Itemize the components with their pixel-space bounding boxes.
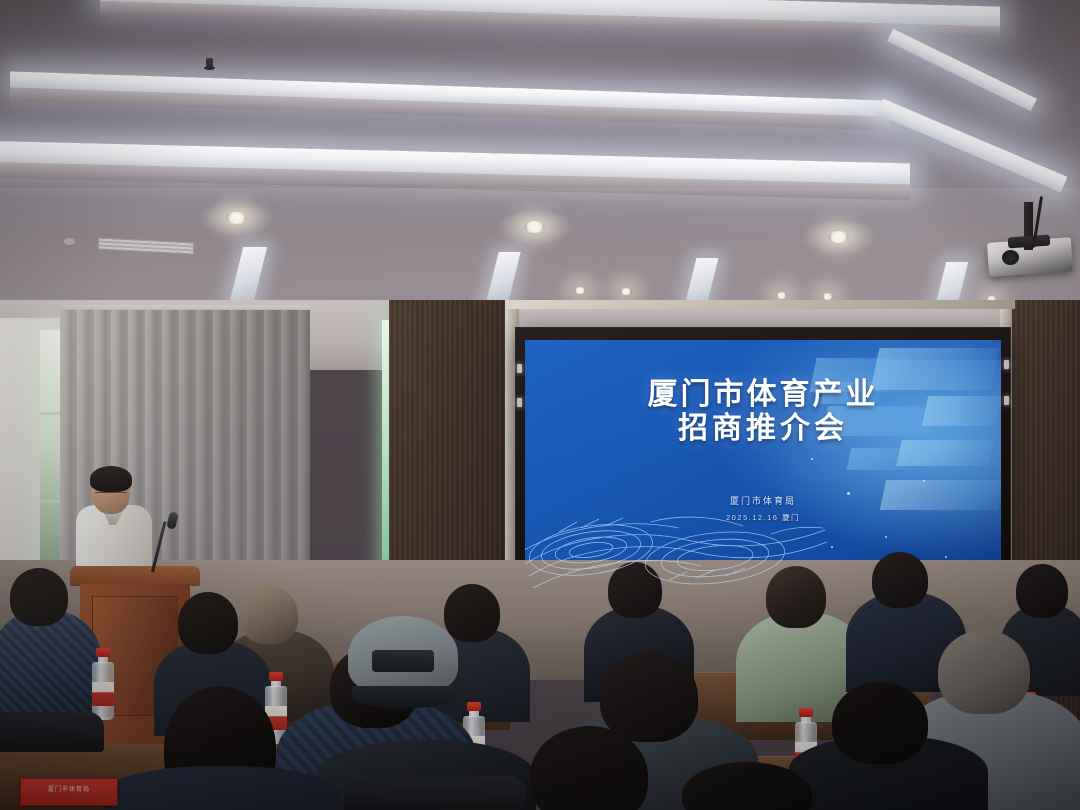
bezel-reflection	[1004, 360, 1009, 369]
sprinkler-head	[206, 58, 213, 69]
slide-title: 厦门市体育产业 招商推介会	[525, 378, 1001, 446]
audience-head	[10, 568, 68, 626]
slide-sparkle	[811, 458, 813, 460]
slide-sparkle	[885, 536, 887, 538]
bottle-cap	[467, 702, 481, 711]
audience-head	[444, 584, 500, 642]
ceiling	[0, 0, 1080, 330]
audience-head	[832, 682, 928, 764]
bottle-label	[92, 682, 114, 706]
recessed-downlight	[524, 221, 545, 233]
slide-title-line1: 厦门市体育产业	[648, 377, 879, 412]
speaker-glasses	[95, 492, 127, 499]
audience-head	[600, 652, 698, 742]
audience-head	[1016, 564, 1068, 618]
bottle-cap	[799, 708, 813, 717]
smoke-detector	[64, 238, 75, 245]
slide-sparkle	[831, 546, 833, 548]
podium-top	[70, 566, 200, 586]
audience-head	[872, 552, 928, 608]
bezel-reflection	[1004, 396, 1009, 405]
audience-head	[938, 630, 1030, 714]
speaker-hair	[90, 466, 132, 492]
slide-ribbon	[847, 448, 916, 470]
slide-title-line2: 招商推介会	[525, 412, 1001, 446]
chair-back	[344, 776, 526, 810]
slide-date-location: 2025.12.16 厦门	[525, 512, 1001, 523]
audience-plaid-blue	[0, 610, 102, 720]
recessed-downlight	[776, 292, 787, 299]
conference-room-photo: 厦门市体育产业 招商推介会 厦门市体育局 2025.12.16 厦门	[0, 0, 1080, 810]
audience-head	[240, 586, 298, 644]
recessed-downlight	[828, 231, 849, 243]
cap-brim	[352, 686, 456, 708]
name-card-text: 厦门市体育局	[21, 784, 117, 793]
recessed-downlight	[822, 293, 833, 300]
bottle-cap	[96, 648, 110, 657]
audience-front-body	[104, 766, 340, 810]
bottle-cap	[269, 672, 283, 681]
recessed-downlight	[620, 288, 632, 295]
cap-strap	[372, 650, 434, 672]
wall-trim	[505, 300, 1015, 309]
audience-head	[178, 592, 238, 654]
linear-cove-light-return	[887, 29, 1037, 112]
bezel-reflection	[517, 398, 522, 407]
bezel-reflection	[517, 364, 522, 373]
name-card: 厦门市体育局	[20, 778, 118, 806]
chair-back	[0, 712, 104, 752]
slide-sparkle	[945, 556, 947, 558]
slide-organization: 厦门市体育局	[525, 494, 1001, 507]
slide-sparkle	[923, 480, 925, 482]
recessed-downlight	[574, 287, 586, 294]
slide-subtitle: 厦门市体育局 2025.12.16 厦门	[525, 494, 1001, 523]
recessed-downlight	[226, 212, 247, 224]
